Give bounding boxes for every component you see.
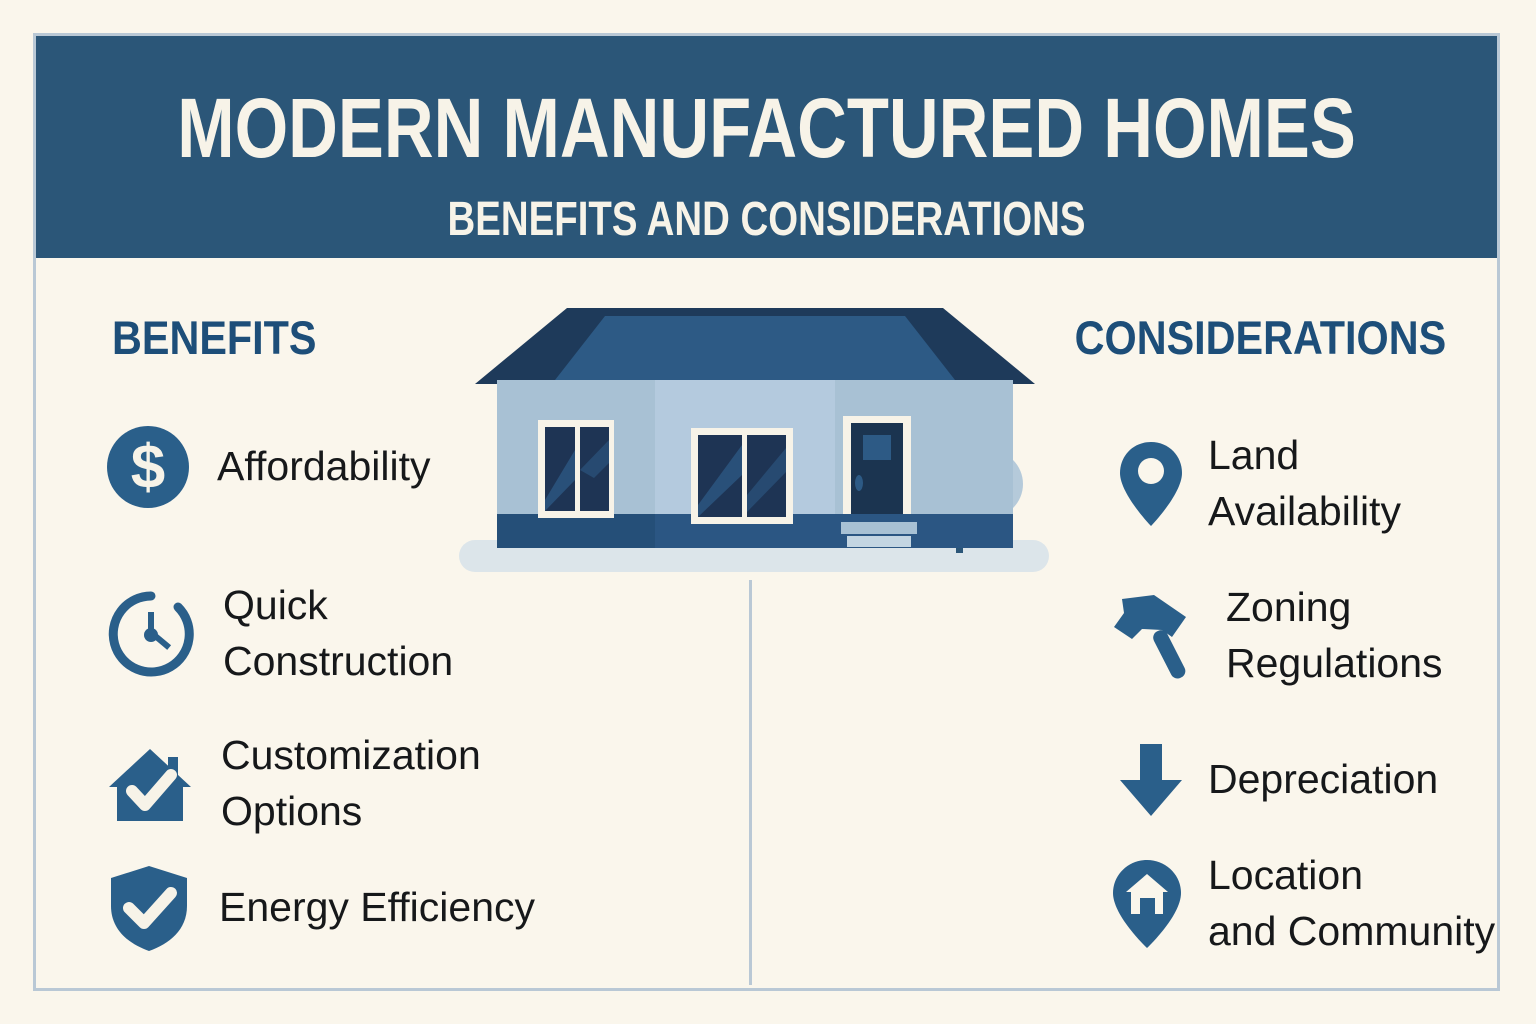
benefits-heading: BENEFITS (112, 314, 317, 361)
manufactured-home-illustration (455, 300, 1055, 590)
list-item-label: Depreciation (1208, 752, 1438, 808)
list-item-label: Quick Construction (223, 578, 453, 690)
header-band: MODERN MANUFACTURED HOMES BENEFITS AND C… (36, 36, 1497, 258)
hammer-icon (1110, 591, 1202, 681)
list-item-label: Customization Options (221, 728, 481, 840)
door-steps (833, 514, 925, 548)
list-item-label: Land Availability (1208, 428, 1401, 540)
svg-text:$: $ (131, 433, 165, 502)
clock-icon (105, 588, 197, 680)
page-title: MODERN MANUFACTURED HOMES (167, 86, 1365, 170)
left-window (538, 420, 614, 518)
list-item[interactable]: Customization Options (105, 728, 481, 840)
infographic-poster: MODERN MANUFACTURED HOMES BENEFITS AND C… (0, 0, 1536, 1024)
considerations-heading: CONSIDERATIONS (1075, 314, 1446, 361)
list-item-label: Zoning Regulations (1226, 580, 1443, 692)
list-item-label: Location and Community (1208, 848, 1495, 960)
list-item[interactable]: Zoning Regulations (1110, 580, 1443, 692)
map-pin-icon (1118, 438, 1184, 530)
wall-base-shadow (497, 514, 655, 548)
list-item[interactable]: Depreciation (1118, 740, 1438, 820)
page-subtitle: BENEFITS AND CONSIDERATIONS (182, 196, 1351, 244)
right-window (691, 428, 793, 524)
list-item-label: Energy Efficiency (219, 880, 535, 936)
list-item[interactable]: Quick Construction (105, 578, 453, 690)
list-item[interactable]: $ Affordability (105, 424, 430, 510)
house-check-icon (105, 739, 195, 829)
roof-inner (555, 316, 955, 380)
dollar-circle-icon: $ (105, 424, 191, 510)
list-item[interactable]: Energy Efficiency (105, 862, 535, 954)
column-divider (749, 580, 752, 985)
list-item-label: Affordability (217, 439, 430, 495)
map-pin-house-icon (1110, 856, 1184, 952)
list-item[interactable]: Location and Community (1110, 848, 1495, 960)
list-item[interactable]: Land Availability (1118, 428, 1401, 540)
shield-check-icon (105, 862, 193, 954)
down-arrow-icon (1118, 740, 1184, 820)
